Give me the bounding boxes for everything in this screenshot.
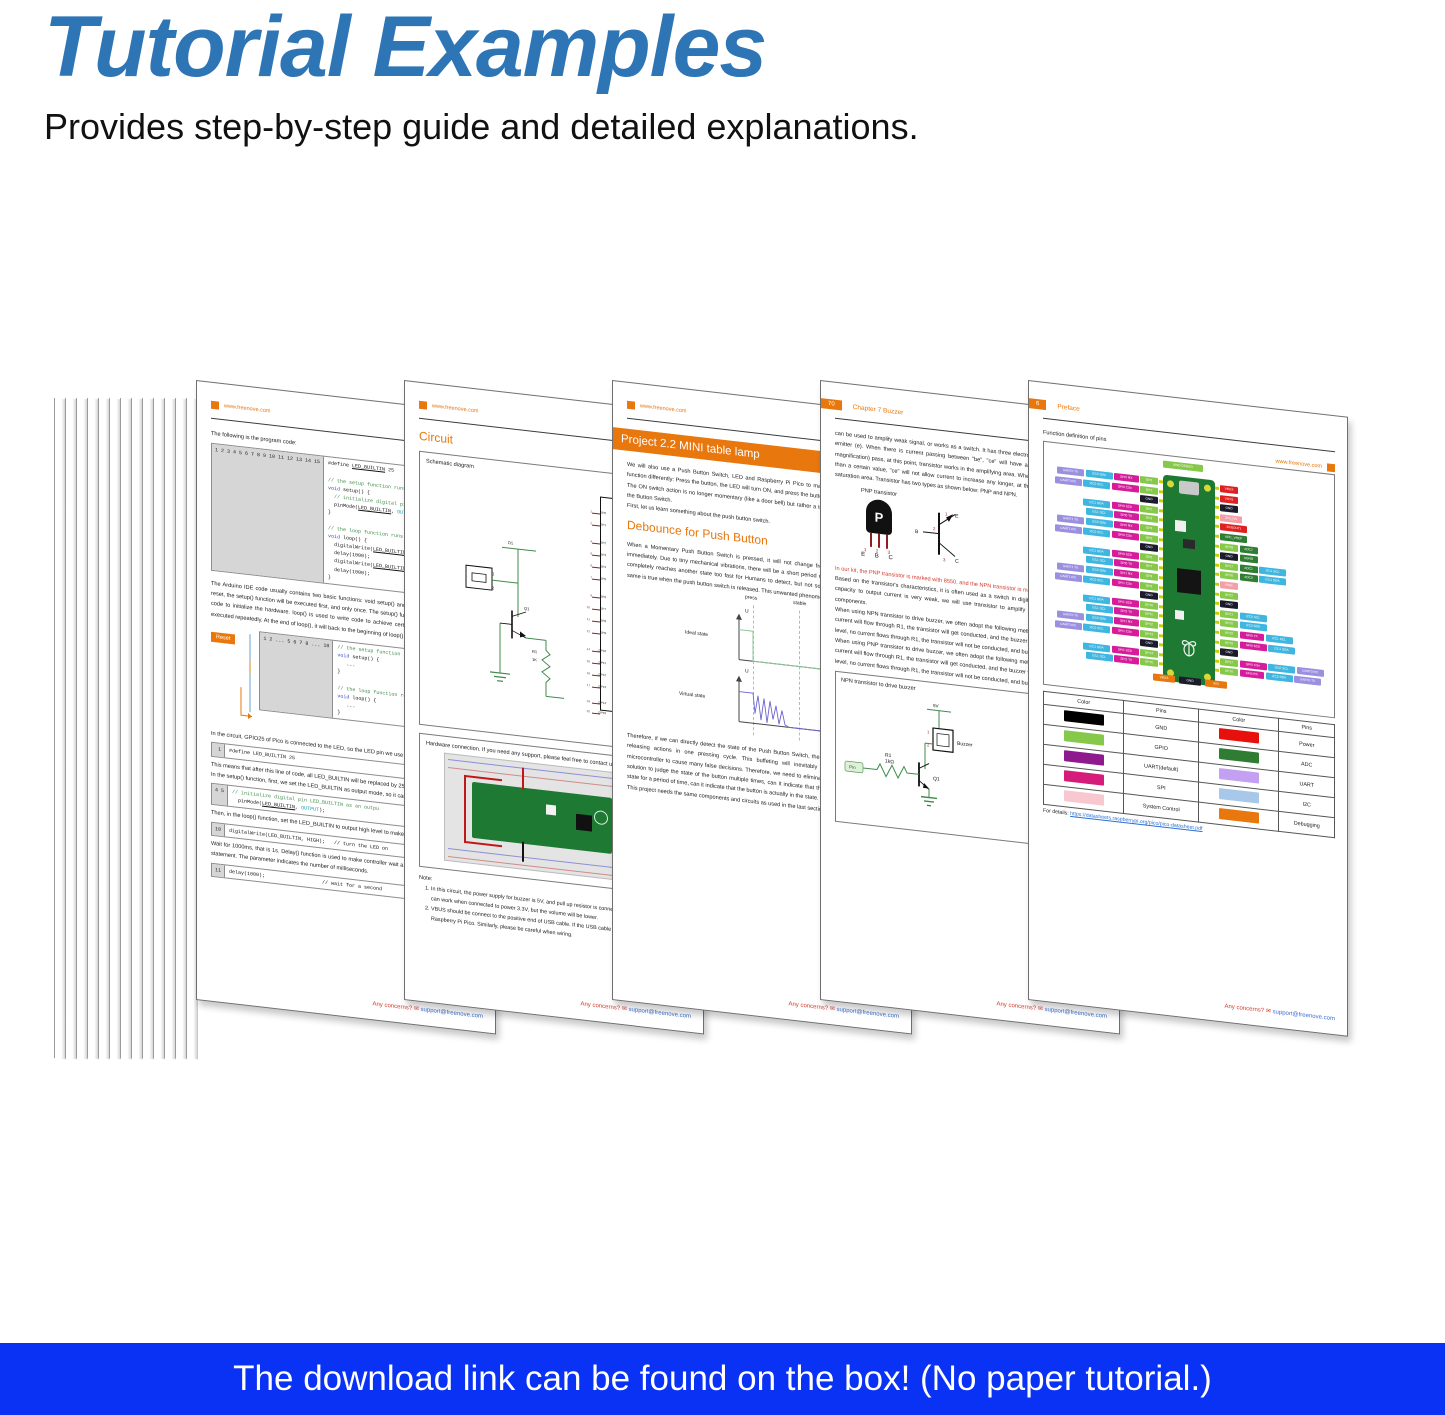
pinout-tag: SPI0 SCK	[1112, 549, 1139, 559]
pnp-package-icon: P	[866, 498, 892, 535]
footer-prefix: Any concerns?	[788, 1001, 828, 1012]
svg-text:2: 2	[933, 526, 936, 531]
svg-text:1: 1	[945, 511, 948, 516]
pinout-tag: ADC2	[1240, 545, 1258, 554]
envelope-icon: ✉	[830, 1006, 835, 1013]
pinout-tag: ADC0	[1240, 574, 1258, 583]
pinout-tag: I2C0 SCL	[1083, 575, 1110, 585]
pnp-caption: PNP transistor	[861, 487, 897, 497]
pin-pad	[1215, 631, 1219, 634]
envelope-icon: ✉	[414, 1006, 419, 1013]
snippet-4-gutter: 11	[212, 863, 225, 877]
freenove-logo-icon	[419, 401, 427, 410]
flow-arrow-svg	[239, 629, 255, 721]
subcircuit-svg: D1 1 2 Q1	[446, 471, 566, 735]
pinout-tag: GP1	[1140, 485, 1158, 494]
svg-text:Q1: Q1	[933, 776, 940, 783]
pinout-tag: GP3	[1140, 514, 1158, 523]
snippet-2-gutter: 4 5	[212, 784, 228, 806]
pinout-tag: I2C1 SCL	[1086, 652, 1113, 662]
chapter-label: Chapter 7 Buzzer	[853, 403, 904, 416]
pin-pad	[1159, 624, 1163, 627]
footer-mail: support@freenove.com	[629, 1007, 691, 1020]
svg-text:B: B	[915, 529, 919, 535]
pinout-tag: SPI1 TX	[1114, 607, 1139, 617]
pinout-tag: UART0 RX	[1055, 620, 1082, 630]
svg-text:Pin: Pin	[849, 765, 856, 771]
color-swatch	[1064, 750, 1104, 766]
pin-pad	[1215, 487, 1219, 490]
pin-pad	[1215, 573, 1219, 576]
pinout-tag: SPI0 TX	[1114, 559, 1139, 569]
color-swatch	[1219, 808, 1259, 824]
tutorial-book-illustration: www.freenove.com The following is the pr…	[0, 380, 1445, 1100]
pin-pad	[1215, 525, 1219, 528]
color-swatch	[1064, 710, 1104, 726]
pinout-tag: UART1 TX	[1057, 514, 1084, 524]
npn-driver-svg: 5V 1 2 Buzzer Q1	[841, 688, 1021, 827]
watermark-label: www.freenove.com	[432, 403, 478, 414]
pinout-tag: I2C0 SCL	[1083, 527, 1110, 537]
pinout-tag: 3V3_EN	[1220, 514, 1242, 524]
pinout-tag: GND	[1220, 648, 1238, 657]
pinout-tag: GND	[1140, 543, 1158, 552]
pinout-tag: I2C0 SDA	[1086, 566, 1113, 576]
download-link-banner: The download link can be found on the bo…	[0, 1343, 1445, 1415]
pinout-tag: GP13	[1140, 629, 1158, 638]
pinout-tag: SPI0 SCK	[1112, 501, 1139, 511]
mount-hole-icon	[1203, 483, 1212, 493]
pin-pad	[1159, 586, 1163, 589]
pinout-tag: I2C0 SDA	[1086, 614, 1113, 624]
banner-text: The download link can be found on the bo…	[233, 1359, 1212, 1399]
footer-mail: support@freenove.com	[421, 1007, 483, 1020]
pinout-tag: UART0 TX	[1057, 466, 1084, 476]
pinout-tag: I2C1 SCL	[1259, 566, 1286, 576]
pin-pad	[1215, 563, 1219, 566]
pinout-diagram-frame: SWD DEBUGGP0SPI0 RXI2C0 SDAUART0 TXGP1SP…	[1043, 441, 1335, 719]
pin-pad	[1159, 576, 1163, 579]
pin-pad	[1215, 650, 1219, 653]
svg-text:1: 1	[927, 729, 930, 734]
svg-text:C: C	[955, 558, 959, 564]
pinout-tag: GP28	[1220, 543, 1238, 552]
color-swatch	[1064, 770, 1104, 786]
pinout-tag: SPI0 TX	[1240, 631, 1265, 641]
pinout-tag: UART0 RX	[1297, 667, 1324, 677]
pin-pad	[1159, 490, 1163, 493]
pinout-tag: GP14	[1140, 649, 1158, 658]
page-title: Tutorial Examples	[44, 4, 1445, 90]
pinout-tag: UART1 RX	[1055, 524, 1082, 534]
pinout-tag: GP6	[1140, 553, 1158, 562]
pin-pad	[1215, 621, 1219, 624]
pin-pad	[1215, 554, 1219, 557]
pinout-tag: GP8	[1140, 572, 1158, 581]
pinout-tag: GP22	[1220, 591, 1238, 600]
pinout-tag: I2C0 SDA	[1240, 622, 1267, 632]
color-swatch	[1219, 788, 1259, 804]
pinout-tag: SPI1 RX	[1114, 569, 1139, 579]
pinout-tag: ADC_VREF	[1220, 533, 1247, 543]
npn-figure: NPN transistor B 2 1 E 3 C	[915, 494, 969, 573]
raspberry-pi-logo-icon	[1178, 634, 1200, 659]
pinout-tag: ADC1	[1240, 564, 1258, 573]
pinout-tag: GP11	[1140, 610, 1158, 619]
details-label: For details:	[1043, 808, 1069, 817]
svg-text:Buzzer: Buzzer	[957, 741, 973, 749]
component-pad	[1183, 539, 1195, 549]
pinout-bottom-tag: GND	[1179, 676, 1201, 686]
pin-pad	[1215, 659, 1219, 662]
pinout-tag: GP10	[1140, 601, 1158, 610]
pinout-tag: GND	[1220, 552, 1238, 561]
watermark-label: www.freenove.com	[224, 403, 270, 414]
footer-prefix: Any concerns?	[1224, 1004, 1264, 1015]
pin-pad	[1159, 605, 1163, 608]
pinout-bottom-tag: 3V3	[1205, 679, 1227, 689]
pinout-tag: I2C0 SDA	[1086, 470, 1113, 480]
pinout-tag: SPI1 TX	[1114, 655, 1139, 665]
pin-pad	[1159, 643, 1163, 646]
pico-board	[1163, 475, 1215, 687]
pinout-tag: I2C1 SDA	[1268, 644, 1295, 654]
svg-text:1: 1	[492, 571, 495, 576]
pinout-bottom-tag: VBUS	[1153, 673, 1175, 683]
pinout-tag: I2C0 SCL	[1083, 623, 1110, 633]
pinout-tag: GP7	[1140, 562, 1158, 571]
envelope-icon: ✉	[1038, 1006, 1043, 1013]
snippet-3-gutter: 10	[212, 823, 225, 837]
pinout-tag: I2C0 SCL	[1083, 479, 1110, 489]
pinout-tag: I2C1 SDA	[1083, 546, 1110, 556]
watermark-label: www.freenove.com	[640, 403, 686, 414]
pinout-tag: I2C0 SDA	[1266, 673, 1293, 683]
freenove-logo-icon	[211, 401, 219, 410]
usb-connector-icon	[1179, 480, 1199, 495]
pin-pad	[1215, 515, 1219, 518]
pin-pad	[1159, 499, 1163, 502]
snippet-1-gutter: 1	[212, 743, 225, 757]
pin-pad	[1215, 640, 1219, 643]
svg-text:5V: 5V	[933, 703, 940, 709]
pinout-tag: SPI0 SCK	[1240, 641, 1267, 651]
pin-pad	[1159, 518, 1163, 521]
pinout-tag: I2C0 SCL	[1240, 612, 1267, 622]
page-number-badge: 70	[821, 398, 842, 410]
mount-hole-icon	[1166, 479, 1175, 489]
pinout-tag: SPI0 RX	[1114, 521, 1139, 531]
pinout-tag: GP4	[1140, 524, 1158, 533]
svg-text:Q1: Q1	[524, 606, 530, 612]
pinout-tag: SPI1 RX	[1114, 617, 1139, 627]
pin-pad	[1215, 611, 1219, 614]
pinout-tag: SPI0 CSn	[1240, 660, 1267, 670]
pinout-tag: I2C0 SDA	[1086, 518, 1113, 528]
pin-pad	[1215, 592, 1219, 595]
chapter-label: Preface	[1057, 403, 1079, 413]
pinout-tag: GP2	[1140, 505, 1158, 514]
pinout-tag: I2C0 SCL	[1268, 663, 1295, 673]
pinout-tag: GP17	[1220, 658, 1238, 667]
pinout-tag: UART1 RX	[1055, 572, 1082, 582]
page-number-badge: 6	[1029, 398, 1046, 410]
pinout-tag: GP20	[1220, 619, 1238, 628]
pin-pad	[1159, 557, 1163, 560]
pin-pad	[1159, 614, 1163, 617]
pinout-tag: GND	[1140, 591, 1158, 600]
pinout-tag: I2C1 SDA	[1083, 498, 1110, 508]
pin-pad	[1159, 509, 1163, 512]
page-stack	[54, 398, 204, 1058]
watermark-label: www.freenove.com	[1276, 458, 1322, 469]
color-swatch	[1064, 790, 1104, 806]
pico-pinout-diagram: SWD DEBUGGP0SPI0 RXI2C0 SDAUART0 TXGP1SP…	[1049, 447, 1329, 711]
pin-pad	[1215, 506, 1219, 509]
pinout-tag: VSYS	[1220, 495, 1238, 504]
svg-text:2: 2	[492, 585, 495, 590]
pinout-tag: I2C1 SCL	[1086, 556, 1113, 566]
page-subtitle: Provides step-by-step guide and detailed…	[44, 106, 1445, 148]
npn-driver-panel: NPN transistor to drive buzzer 5V 1 2 Bu…	[836, 672, 1040, 844]
color-swatch	[1064, 730, 1104, 746]
pin-pad	[1215, 583, 1219, 586]
pinout-tag: GND	[1140, 639, 1158, 648]
flow-arrow-icon	[239, 629, 255, 726]
pinout-tag: GP16	[1220, 667, 1238, 676]
freenove-logo-icon	[1327, 463, 1335, 472]
pin-pad	[1215, 535, 1219, 538]
pinout-tag: SPI1 CSn	[1112, 578, 1139, 588]
pinout-tag: SPI0 RX	[1114, 473, 1139, 483]
pinout-tag: SPI1 SCK	[1112, 645, 1139, 655]
pinout-tag-swd: SWD DEBUG	[1163, 461, 1203, 473]
npn-symbol-svg: B 2 1 E 3 C	[915, 504, 969, 568]
svg-text:R1: R1	[532, 649, 538, 655]
svg-text:1K: 1K	[532, 657, 537, 663]
pnp-figure: PNP transistor P 1 2 3 E B C	[861, 487, 897, 561]
pinout-tag: SPI0 RX	[1240, 670, 1265, 680]
footer-prefix: Any concerns?	[372, 1001, 412, 1012]
svg-text:D1: D1	[508, 540, 514, 546]
pinout-tag: GP0	[1140, 476, 1158, 485]
pin-pad	[1159, 566, 1163, 569]
pinout-tag: GND	[1140, 495, 1158, 504]
pinout-tag: GP18	[1220, 639, 1238, 648]
color-swatch	[1219, 748, 1259, 764]
pinout-tag: UART0 TX	[1057, 610, 1084, 620]
pin-pad	[1215, 602, 1219, 605]
code-gutter-flow: 1 2 ... 5 6 7 8 ... 10	[260, 633, 333, 718]
pin-pad	[1159, 547, 1163, 550]
pinout-tag: GP27	[1220, 562, 1238, 571]
pinout-tag: GP21	[1220, 610, 1238, 619]
pinout-tag: UART1 TX	[1057, 562, 1084, 572]
pinout-tag: SPI1 SCK	[1112, 597, 1139, 607]
pin-pad	[1215, 544, 1219, 547]
header: Tutorial Examples Provides step-by-step …	[0, 0, 1445, 148]
pin-pad	[1159, 595, 1163, 598]
pinout-tag: I2C1 SDA	[1259, 576, 1286, 586]
pinout-tag: GP26	[1220, 571, 1238, 580]
pinout-tag: GP5	[1140, 533, 1158, 542]
pinout-tag: 3V3(OUT)	[1220, 523, 1247, 533]
rp2040-chip-icon	[1177, 568, 1201, 595]
pinout-tag: SPI0 CSn	[1112, 482, 1139, 492]
footer-prefix: Any concerns?	[580, 1001, 620, 1012]
pinout-tag: GP15	[1140, 658, 1158, 667]
pin-pad	[1159, 653, 1163, 656]
pinout-tag: GND	[1220, 600, 1238, 609]
pin-pad	[1159, 662, 1163, 665]
svg-text:E: E	[955, 513, 959, 519]
pin-pad	[1215, 496, 1219, 499]
pinout-tag: I2C1 SCL	[1266, 634, 1293, 644]
pinout-tag: VBUS	[1220, 485, 1238, 494]
pinout-tag: I2C1 SCL	[1086, 508, 1113, 518]
pinout-tag: SPI1 CSn	[1112, 626, 1139, 636]
footer-mail: support@freenove.com	[1273, 1009, 1335, 1022]
pinout-tag: UART0 TX	[1294, 676, 1321, 686]
envelope-icon: ✉	[622, 1006, 627, 1013]
pin-pad	[1159, 528, 1163, 531]
pinout-tag: RUN	[1220, 581, 1238, 590]
pinout-tag: GP9	[1140, 581, 1158, 590]
color-swatch	[1219, 768, 1259, 784]
svg-text:1kΩ: 1kΩ	[885, 759, 894, 766]
pinout-tag: GND	[1220, 504, 1238, 513]
pinout-tag: I2C1 SDA	[1083, 594, 1110, 604]
pin-pad	[1159, 538, 1163, 541]
tutorial-page-preface[interactable]: 6 Preface Function definition of pins ww…	[1028, 380, 1348, 1037]
envelope-icon: ✉	[1266, 1008, 1271, 1015]
component-pad	[1175, 520, 1186, 532]
color-swatch	[1219, 728, 1259, 744]
pinout-tag: SPI0 CSn	[1112, 530, 1139, 540]
pinout-tag: GP19	[1220, 629, 1238, 638]
svg-text:3: 3	[943, 557, 946, 562]
footer-prefix: Any concerns?	[996, 1001, 1036, 1012]
code-gutter: 1 2 3 4 5 6 7 8 9 10 11 12 13 14 15	[212, 444, 324, 582]
pin-pad	[1215, 669, 1219, 672]
pnp-package-letter: P	[875, 509, 884, 525]
footer-mail: support@freenove.com	[837, 1007, 899, 1020]
pinout-tag: I2C1 SCL	[1086, 604, 1113, 614]
pin-pad	[1159, 480, 1163, 483]
pinout-tag: UART0 RX	[1055, 476, 1082, 486]
pinout-tag: AGND	[1240, 555, 1258, 564]
pinout-tag: GP12	[1140, 620, 1158, 629]
pinout-tag: I2C1 SDA	[1083, 642, 1110, 652]
pin-pad	[1159, 634, 1163, 637]
component-pad	[1175, 610, 1184, 620]
footer-mail: support@freenove.com	[1045, 1007, 1107, 1020]
reset-chip-label: Reset	[211, 632, 235, 645]
pinout-tag: SPI0 TX	[1114, 511, 1139, 521]
freenove-logo-icon	[627, 401, 635, 410]
